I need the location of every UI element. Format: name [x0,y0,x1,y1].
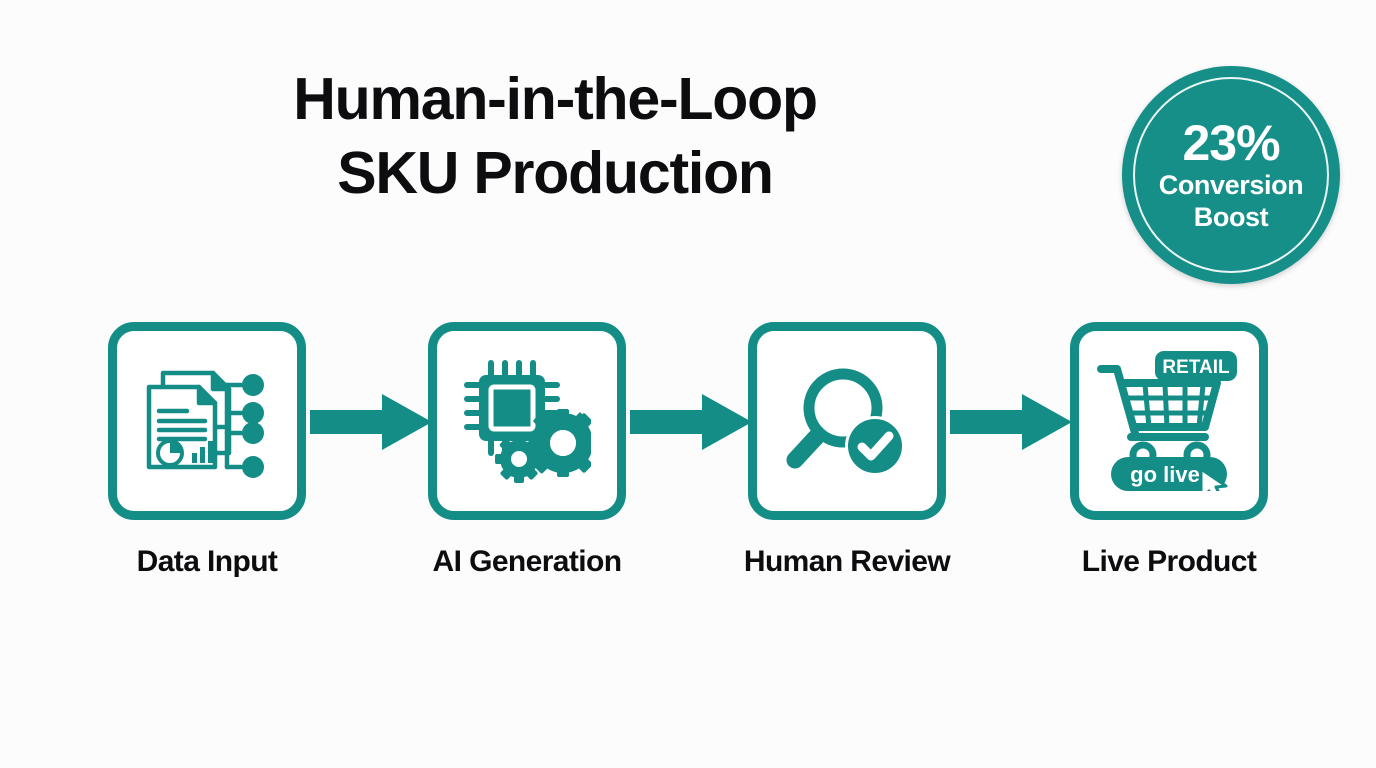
shopping-cart-go-live-icon: RETAIL go li [1093,351,1245,491]
badge-caption-line-1: Conversion [1159,169,1304,201]
title-line-1: Human-in-the-Loop [0,62,1110,136]
flow-step-human-review[interactable]: Human Review [748,322,946,520]
step-icon-box-3 [748,322,946,520]
step-label-live-product: Live Product [1030,544,1308,580]
flow-step-data-input[interactable]: Data Input [108,322,306,520]
document-analytics-network-icon [141,361,273,481]
title-line-2: SKU Production [0,136,1110,210]
page-title: Human-in-the-Loop SKU Production [0,62,1110,210]
step-icon-box-4: RETAIL go li [1070,322,1268,520]
step-label-human-review: Human Review [708,544,986,580]
process-flow: Data Input [0,322,1376,522]
arrow-data-to-ai [310,394,432,450]
magnifier-check-icon [785,362,909,480]
badge-percent-value: 23% [1182,117,1279,169]
go-live-button-label: go live [1130,462,1200,487]
conversion-boost-badge: 23% Conversion Boost [1122,66,1340,284]
step-label-data-input: Data Input [68,544,346,580]
arrow-review-to-live [950,394,1072,450]
cpu-chip-gears-icon [463,359,591,483]
step-label-ai-generation: AI Generation [388,544,666,580]
retail-tag-label: RETAIL [1162,357,1230,378]
step-icon-box-1 [108,322,306,520]
badge-caption-line-2: Boost [1194,201,1269,233]
flow-step-ai-generation[interactable]: AI Generation [428,322,626,520]
flow-step-live-product[interactable]: RETAIL go li [1070,322,1268,520]
arrow-ai-to-review [630,394,752,450]
step-icon-box-2 [428,322,626,520]
